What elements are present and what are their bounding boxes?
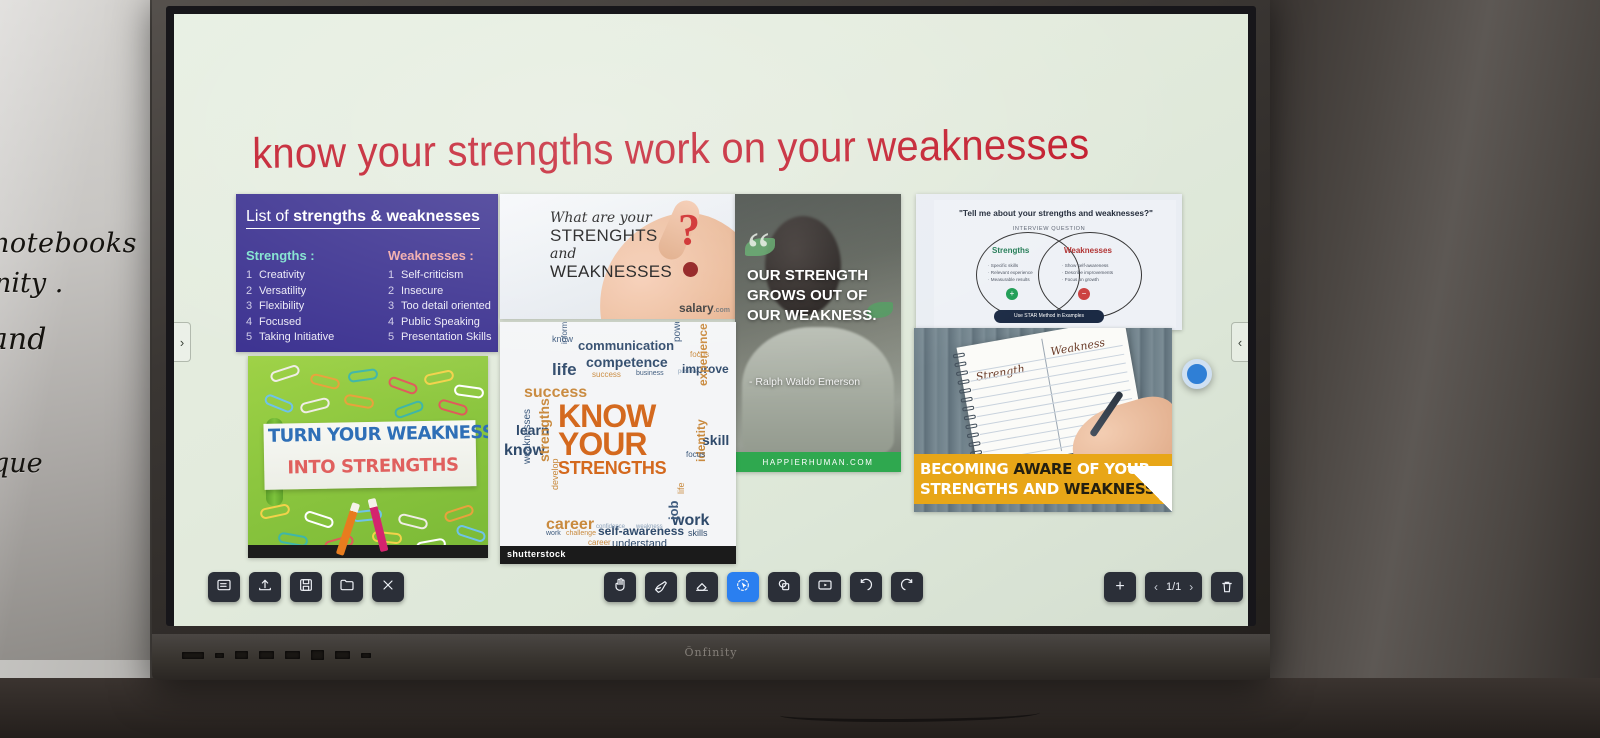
image-know-your-strengths-wordcloud[interactable]: communicationcompetencesuccessbusinesspo… (500, 322, 736, 564)
venn-bullet: · Show self-awareness (1062, 262, 1113, 269)
venn-left-title: Strengths (992, 246, 1029, 255)
venn-bullet: · Focus on growth (1062, 276, 1113, 283)
io-port (215, 653, 224, 658)
list-item: 5Taking Initiative (246, 330, 334, 346)
venn-right-title: Weaknesses (1064, 246, 1112, 255)
turn-line1: TURN YOUR WEAKNESSES (268, 422, 478, 447)
wordcloud-word: work (546, 530, 561, 537)
image-emerson-quote[interactable]: “ OUR STRENGTH GROWS OUT OF OUR WEAKNESS… (735, 194, 901, 472)
shape-tool-icon (776, 577, 792, 598)
wordcloud-word: challenge (566, 530, 596, 537)
venn-bullet: · Measurable results (988, 276, 1033, 283)
wordcloud-word: life (676, 482, 686, 494)
tile2-line1: What are your (550, 210, 672, 226)
io-port (182, 652, 204, 659)
wordcloud-word: business (636, 370, 664, 377)
venn-plus-badge: + (1006, 288, 1018, 300)
wordcloud-word: skills (688, 528, 708, 538)
page-title: know your strengths work on your weaknes… (252, 122, 1108, 177)
venn-bullet: · Describe improvements (1062, 269, 1113, 276)
corner-fold (1126, 466, 1172, 512)
file-toolbar[interactable] (208, 572, 404, 602)
cable (780, 706, 1040, 722)
spiral-binding (954, 361, 967, 367)
salary-brand-label: salary.com (679, 301, 730, 315)
close-icon (380, 577, 396, 598)
upload-button[interactable] (249, 572, 281, 602)
spiral-binding (959, 388, 972, 394)
list-item: 1Creativity (246, 268, 334, 284)
list-item: 4Public Speaking (388, 315, 498, 331)
eraser-tool-icon (694, 577, 710, 598)
spiral-binding (953, 352, 966, 358)
page-toolbar[interactable]: + ‹ 1/1 › (1104, 572, 1243, 602)
pen-tool-icon (653, 577, 669, 598)
io-port (285, 651, 300, 659)
video-tool-button[interactable] (809, 572, 841, 602)
notepad-right-label: Weakness (1050, 336, 1106, 358)
tile2-line4: WEAKNESSES (550, 262, 672, 282)
folder-icon (339, 577, 355, 598)
list-item: 2Versatility (246, 284, 334, 300)
panel-expand-left-button[interactable]: › (174, 322, 191, 362)
image-interview-venn-diagram[interactable]: "Tell me about your strengths and weakne… (916, 194, 1182, 330)
select-tool-icon (735, 577, 751, 598)
room-scene: notebooks nity . and que know your stren… (0, 0, 1600, 738)
aware-line1: BECOMING AWARE OF YOUR (920, 460, 1150, 478)
wordcloud-word: confidence (596, 524, 625, 530)
venn-footer-pill: Use STAR Method in Examples (994, 310, 1104, 323)
page-indicator: 1/1 (1166, 581, 1181, 593)
save-button[interactable] (290, 572, 322, 602)
shutterstock-label: shutterstock (507, 549, 566, 559)
venn-bullet: · Specific skills (988, 262, 1033, 269)
wordcloud-word: focus (686, 450, 705, 459)
wordcloud-word: life (552, 360, 577, 380)
display-chin: Ōnfinity (152, 634, 1270, 680)
menu-icon (216, 577, 232, 598)
hand-tool-button[interactable] (604, 572, 636, 602)
list-item: 5Presentation Skills (388, 330, 498, 346)
quote-footer-bar: HAPPIERHUMAN.COM (735, 452, 901, 472)
undo-button[interactable] (850, 572, 882, 602)
list-heading: List of strengths & weaknesses (246, 208, 480, 229)
spiral-binding (964, 414, 977, 420)
strengths-column-header: Strengths : (246, 248, 315, 263)
video-tool-icon (817, 577, 833, 598)
device-brand-logo: Ōnfinity (685, 646, 738, 659)
venn-question: "Tell me about your strengths and weakne… (940, 208, 1172, 218)
wordcloud-word: power (672, 322, 683, 342)
whiteboard: notebooks nity . and que (0, 0, 150, 660)
shape-tool-button[interactable] (768, 572, 800, 602)
question-mark-icon: ? (678, 204, 700, 255)
shutterstock-bar: shutterstock (500, 546, 736, 564)
image-strengths-weaknesses-list[interactable]: List of strengths & weaknesses Strengths… (236, 194, 498, 352)
wordcloud-word: success (592, 370, 621, 379)
tile2-text: What are your STRENGHTS and WEAKNESSES (550, 210, 672, 282)
spiral-binding (956, 370, 969, 376)
folder-button[interactable] (331, 572, 363, 602)
eraser-tool-button[interactable] (686, 572, 718, 602)
interactive-display: know your strengths work on your weaknes… (152, 0, 1270, 680)
image-what-are-your-strengths[interactable]: What are your STRENGHTS and WEAKNESSES ?… (500, 194, 736, 319)
list-item: 2Insecure (388, 284, 498, 300)
spiral-binding (968, 441, 981, 447)
floor-strip (0, 678, 1600, 738)
wordcloud-word: competence (586, 354, 668, 370)
add-page-button[interactable]: + (1104, 572, 1136, 602)
person-body (742, 327, 895, 455)
venn-left-points: · Specific skills· Relevant experience· … (988, 262, 1033, 283)
redo-button[interactable] (891, 572, 923, 602)
page-navigator[interactable]: ‹ 1/1 › (1145, 572, 1202, 602)
save-icon (298, 577, 314, 598)
hand-tool-icon (612, 577, 628, 598)
floating-radial-menu-button[interactable] (1182, 359, 1212, 389)
weaknesses-list: 1Self-criticism2Insecure3Too detail orie… (388, 268, 498, 346)
io-port (311, 650, 324, 660)
select-tool-button[interactable] (727, 572, 759, 602)
upload-icon (257, 577, 273, 598)
panel-expand-right-button[interactable]: ‹ (1231, 322, 1248, 362)
wordcloud-word: strengths (536, 398, 552, 462)
right-wall (1270, 0, 1600, 738)
wordcloud-main-3: STRENGTHS (558, 458, 666, 479)
list-item: 1Self-criticism (388, 268, 498, 284)
spiral-binding (962, 406, 975, 412)
io-port (235, 651, 248, 659)
delete-page-button[interactable] (1211, 572, 1243, 602)
spiral-binding (960, 397, 973, 403)
marker-tip (683, 262, 698, 277)
quote-author: - Ralph Waldo Emerson (749, 376, 860, 388)
tile2-line3: and (550, 246, 672, 262)
whiteboard-note-3: and (0, 322, 46, 357)
list-item: 4Focused (246, 315, 334, 331)
spiral-binding (957, 379, 970, 385)
venn-bullet: · Relevant experience (988, 269, 1033, 276)
prev-page-button[interactable]: ‹ (1154, 580, 1158, 594)
quote-mark-icon: “ (747, 234, 770, 270)
io-port (259, 651, 274, 659)
pen-tool-button[interactable] (645, 572, 677, 602)
venn-right-points: · Show self-awareness· Describe improvem… (1062, 262, 1113, 283)
io-port (361, 653, 371, 658)
wordcloud-word: job (666, 501, 681, 521)
wordcloud-word: weaknesses (522, 409, 533, 464)
spiral-binding (965, 423, 978, 429)
next-page-button[interactable]: › (1189, 580, 1193, 594)
image-becoming-aware[interactable]: Strength Weakness BECOMING AWARE OF YOUR… (914, 328, 1172, 512)
port-array (182, 650, 371, 660)
wordcloud-word: communication (578, 338, 674, 353)
tool-toolbar[interactable] (604, 572, 923, 602)
wordcloud-word: know (552, 334, 573, 344)
undo-icon (858, 577, 874, 598)
io-port (335, 651, 350, 659)
wordcloud-word: weakness (636, 524, 663, 530)
wordcloud-word: experience (696, 323, 710, 386)
image-turn-weaknesses-into-strengths[interactable]: TURN YOUR WEAKNESSES INTO STRENGTHS (248, 356, 488, 558)
menu-button[interactable] (208, 572, 240, 602)
close-button[interactable] (372, 572, 404, 602)
redo-icon (899, 577, 915, 598)
list-item: 3Flexibility (246, 299, 334, 315)
quote-footer-text: HAPPIERHUMAN.COM (763, 458, 874, 467)
weaknesses-column-header: Weaknesses : (388, 248, 474, 263)
list-item: 3Too detail oriented (388, 299, 498, 315)
venn-minus-badge: − (1078, 288, 1090, 300)
whiteboard-app-screen[interactable]: know your strengths work on your weaknes… (174, 14, 1248, 626)
whiteboard-note-1: notebooks (0, 228, 137, 259)
turn-line2: INTO STRENGTHS (268, 454, 478, 479)
tile2-line2: STRENGHTS (550, 226, 672, 246)
spiral-binding (967, 432, 980, 438)
tile5-footer-bar (248, 545, 488, 558)
strengths-list: 1Creativity2Versatility3Flexibility4Focu… (246, 268, 334, 346)
whiteboard-note-2: nity . (0, 268, 63, 299)
quote-text: OUR STRENGTH GROWS OUT OF OUR WEAKNESS. (747, 266, 897, 326)
venn-subtitle: INTERVIEW QUESTION (916, 226, 1182, 232)
whiteboard-note-4: que (0, 448, 43, 479)
